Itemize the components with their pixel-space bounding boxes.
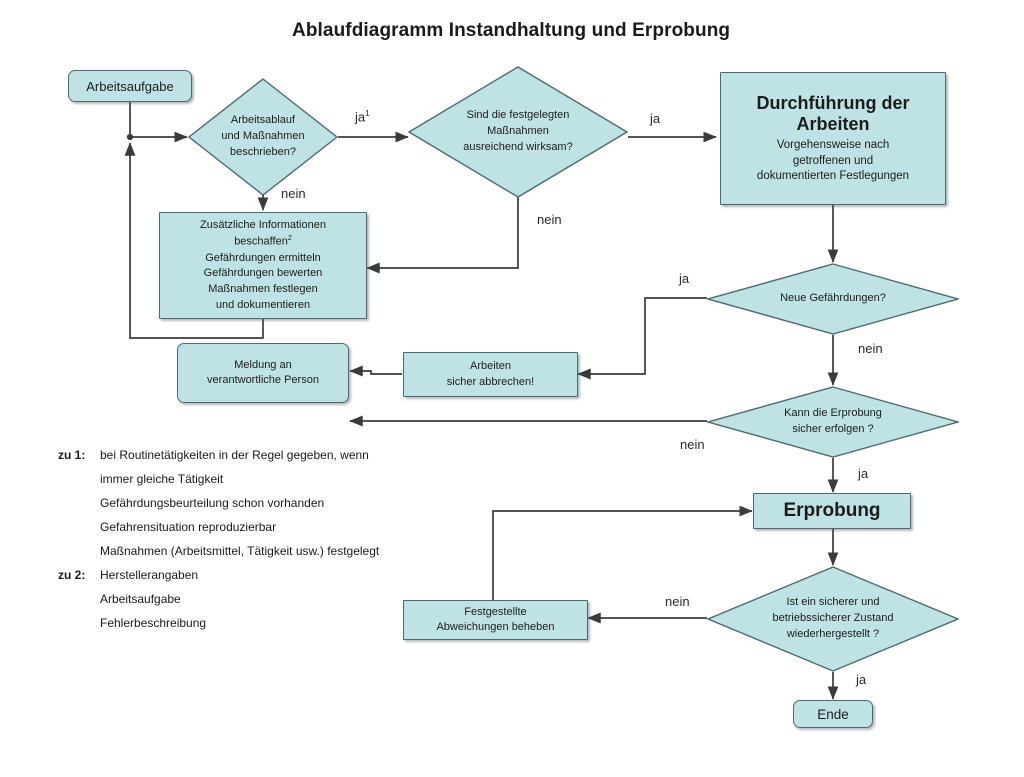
edge-label-ja-1: ja1 [355, 108, 370, 124]
line-1: Arbeitsablauf [221, 113, 304, 129]
footnote-key: zu 2: [58, 568, 100, 582]
edge-label-nein-5: nein [665, 594, 690, 609]
line-2: betriebssicherer Zustand [772, 611, 893, 627]
node-arbeiten-abbrechen-label: Arbeiten sicher abbrechen! [447, 359, 534, 390]
footnotes-block: zu 1: bei Routinetätigkeiten in der Rege… [58, 448, 488, 640]
line-2: beschaffen2 [200, 233, 326, 250]
line-2: sicher erfolgen ? [784, 422, 882, 438]
node-ende[interactable]: Ende [793, 700, 873, 728]
footnote-line: Maßnahmen (Arbeitsmittel, Tätigkeit usw.… [100, 544, 379, 558]
line-3: Gefährdungen ermitteln [200, 251, 326, 267]
line-2: Maßnahmen [463, 124, 572, 140]
node-zusaetzliche-informationen[interactable]: Zusätzliche Informationen beschaffen2 Ge… [159, 212, 367, 319]
node-zusaetzliche-informationen-label: Zusätzliche Informationen beschaffen2 Ge… [200, 218, 326, 313]
node-durchfuehrung-heading: Durchführung der Arbeiten [757, 93, 910, 135]
node-ende-label: Ende [817, 707, 849, 722]
footnote-zu-2: zu 2: Herstellerangaben Arbeitsaufgabe F… [58, 568, 488, 630]
node-arbeitsablauf-beschrieben-label: Arbeitsablauf und Maßnahmen beschrieben? [215, 113, 310, 161]
footnote-line: Gefahrensituation reproduzierbar [100, 520, 379, 534]
node-arbeitsaufgabe[interactable]: Arbeitsaufgabe [68, 70, 192, 102]
sub-line-3: dokumentierten Festlegungen [757, 169, 909, 184]
node-arbeitsablauf-beschrieben[interactable]: Arbeitsablauf und Maßnahmen beschrieben? [188, 78, 338, 196]
edge-label-nein-2: nein [537, 212, 562, 227]
node-meldung-verantwortliche-person-label: Meldung an verantwortliche Person [207, 358, 319, 389]
line-1: Zusätzliche Informationen [200, 218, 326, 234]
footnote-line: Fehlerbeschreibung [100, 616, 206, 630]
line-2: sicher abbrechen! [447, 375, 534, 390]
footnote-lines: bei Routinetätigkeiten in der Regel gege… [100, 448, 379, 558]
line-5: Maßnahmen festlegen [200, 282, 326, 298]
edge-label-ja-4: ja [858, 466, 868, 481]
footnote-line: Arbeitsaufgabe [100, 592, 206, 606]
node-neue-gefaehrdungen-label: Neue Gefährdungen? [774, 291, 892, 307]
line-1: Ist ein sicherer und [772, 595, 893, 611]
heading-line-2: Arbeiten [757, 114, 910, 135]
footnote-line: Gefährdungsbeurteilung schon vorhanden [100, 496, 379, 510]
node-sicherer-zustand-label: Ist ein sicherer und betriebssicherer Zu… [766, 595, 899, 643]
heading-line-1: Durchführung der [757, 93, 910, 114]
footnote-line: Herstellerangaben [100, 568, 206, 582]
node-meldung-verantwortliche-person[interactable]: Meldung an verantwortliche Person [177, 343, 349, 403]
node-durchfuehrung-subtext: Vorgehensweise nach getroffenen und doku… [757, 138, 909, 184]
edge-label-nein-4: nein [680, 437, 705, 452]
node-kann-erprobung-label: Kann die Erprobung sicher erfolgen ? [778, 406, 888, 438]
edge-label-nein-3: nein [858, 341, 883, 356]
line-1: Sind die festgelegten [463, 108, 572, 124]
footnote-marker-2: 2 [288, 234, 292, 242]
footnote-zu-1: zu 1: bei Routinetätigkeiten in der Rege… [58, 448, 488, 558]
footnote-marker-1: 1 [365, 108, 370, 118]
node-erprobung[interactable]: Erprobung [753, 493, 911, 529]
edge-label-ja-3: ja [679, 271, 689, 286]
line-2-text: beschaffen [234, 236, 288, 248]
footnote-key: zu 1: [58, 448, 100, 462]
sub-line-1: Vorgehensweise nach [757, 138, 909, 153]
edge-label-nein-1: nein [281, 186, 306, 201]
node-kann-erprobung[interactable]: Kann die Erprobung sicher erfolgen ? [707, 386, 959, 458]
line-3: ausreichend wirksam? [463, 140, 572, 156]
footnote-line: immer gleiche Tätigkeit [100, 472, 379, 486]
line-2: und Maßnahmen [221, 129, 304, 145]
node-massnahmen-wirksam[interactable]: Sind die festgelegten Maßnahmen ausreich… [408, 66, 628, 198]
node-sicherer-zustand[interactable]: Ist ein sicherer und betriebssicherer Zu… [707, 566, 959, 672]
line-2: verantwortliche Person [207, 373, 319, 388]
line-4: Gefährdungen bewerten [200, 266, 326, 282]
page-title: Ablaufdiagramm Instandhaltung und Erprob… [292, 20, 730, 42]
line-1: Neue Gefährdungen? [780, 291, 886, 307]
edge-label-ja-5: ja [856, 672, 866, 687]
node-erprobung-label: Erprobung [783, 500, 880, 522]
line-3: wiederhergestellt ? [772, 627, 893, 643]
line-1: Meldung an [207, 358, 319, 373]
node-arbeiten-abbrechen[interactable]: Arbeiten sicher abbrechen! [403, 352, 578, 397]
footnote-lines: Herstellerangaben Arbeitsaufgabe Fehlerb… [100, 568, 206, 630]
edge-label-ja-2: ja [650, 111, 660, 126]
line-6: und dokumentieren [200, 298, 326, 314]
node-arbeitsaufgabe-label: Arbeitsaufgabe [86, 79, 173, 94]
node-durchfuehrung-arbeiten[interactable]: Durchführung der Arbeiten Vorgehensweise… [720, 72, 946, 205]
line-1: Arbeiten [447, 359, 534, 374]
node-neue-gefaehrdungen[interactable]: Neue Gefährdungen? [707, 263, 959, 335]
footnote-line: bei Routinetätigkeiten in der Regel gege… [100, 448, 379, 462]
line-3: beschrieben? [221, 145, 304, 161]
edge-label-ja-1-text: ja [355, 109, 365, 124]
node-massnahmen-wirksam-label: Sind die festgelegten Maßnahmen ausreich… [457, 108, 578, 156]
sub-line-2: getroffenen und [757, 154, 909, 169]
line-1: Kann die Erprobung [784, 406, 882, 422]
flowchart-canvas: Ablaufdiagramm Instandhaltung und Erprob… [0, 0, 1024, 777]
